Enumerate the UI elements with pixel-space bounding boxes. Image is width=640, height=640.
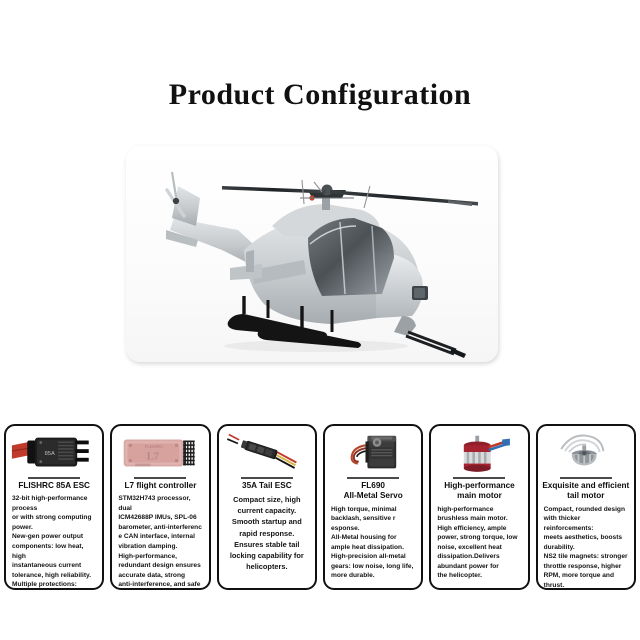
spec-card-title: High-performance main motor	[444, 481, 515, 502]
rc-helicopter-photo	[126, 146, 498, 362]
card-divider	[241, 477, 293, 479]
flight-controller-icon: FLISHRC L7	[116, 430, 204, 476]
spec-card-flight-controller[interactable]: FLISHRC L7	[110, 424, 210, 590]
spec-card-tail-motor[interactable]: Exquisite and efficient tail motor Compa…	[536, 424, 636, 590]
page-title: Product Configuration	[0, 78, 640, 112]
spec-card-tail-esc[interactable]: 35A Tail ESC Compact size, high current …	[217, 424, 317, 590]
svg-text:L7: L7	[147, 452, 160, 463]
svg-text:85A: 85A	[45, 451, 55, 457]
main-motor-icon	[435, 430, 523, 476]
spec-card-title: L7 flight controller	[125, 481, 197, 491]
svg-text:FLISHRC: FLISHRC	[145, 444, 163, 449]
tail-esc-icon	[223, 430, 311, 476]
card-divider	[28, 477, 80, 479]
spec-card-body: high-performance brushless main motor. H…	[435, 505, 523, 587]
card-divider	[560, 477, 612, 479]
tail-motor-icon	[542, 430, 630, 476]
hero-image-stage	[126, 146, 498, 362]
spec-cards-row: 85A FLISHRC 85A ESC 32-bit high-performa…	[4, 424, 636, 590]
spec-card-title: FL690 All-Metal Servo	[344, 481, 403, 502]
spec-card-body: 32-bit high-performance process or with …	[10, 494, 98, 590]
spec-card-esc[interactable]: 85A FLISHRC 85A ESC 32-bit high-performa…	[4, 424, 104, 590]
servo-icon	[329, 430, 417, 476]
spec-card-servo[interactable]: FL690 All-Metal Servo High torque, minim…	[323, 424, 423, 590]
spec-card-body: STM32H743 processor, dual ICM42688P IMUs…	[116, 494, 204, 590]
spec-card-body: Compact, rounded design with thicker rei…	[542, 505, 630, 591]
spec-card-title: 35A Tail ESC	[242, 481, 292, 491]
esc-module-icon: 85A	[10, 430, 98, 476]
hero-product-card	[126, 146, 498, 362]
card-divider	[453, 477, 505, 479]
spec-card-body: High torque, minimal backlash, sensitive…	[329, 505, 417, 587]
card-divider	[134, 477, 186, 479]
spec-card-main-motor[interactable]: High-performance main motor high-perform…	[429, 424, 529, 590]
spec-card-title: FLISHRC 85A ESC	[18, 481, 90, 491]
spec-card-title: Exquisite and efficient tail motor	[542, 481, 629, 502]
spec-card-body: Compact size, high current capacity. Smo…	[223, 494, 311, 586]
card-divider	[347, 477, 399, 479]
